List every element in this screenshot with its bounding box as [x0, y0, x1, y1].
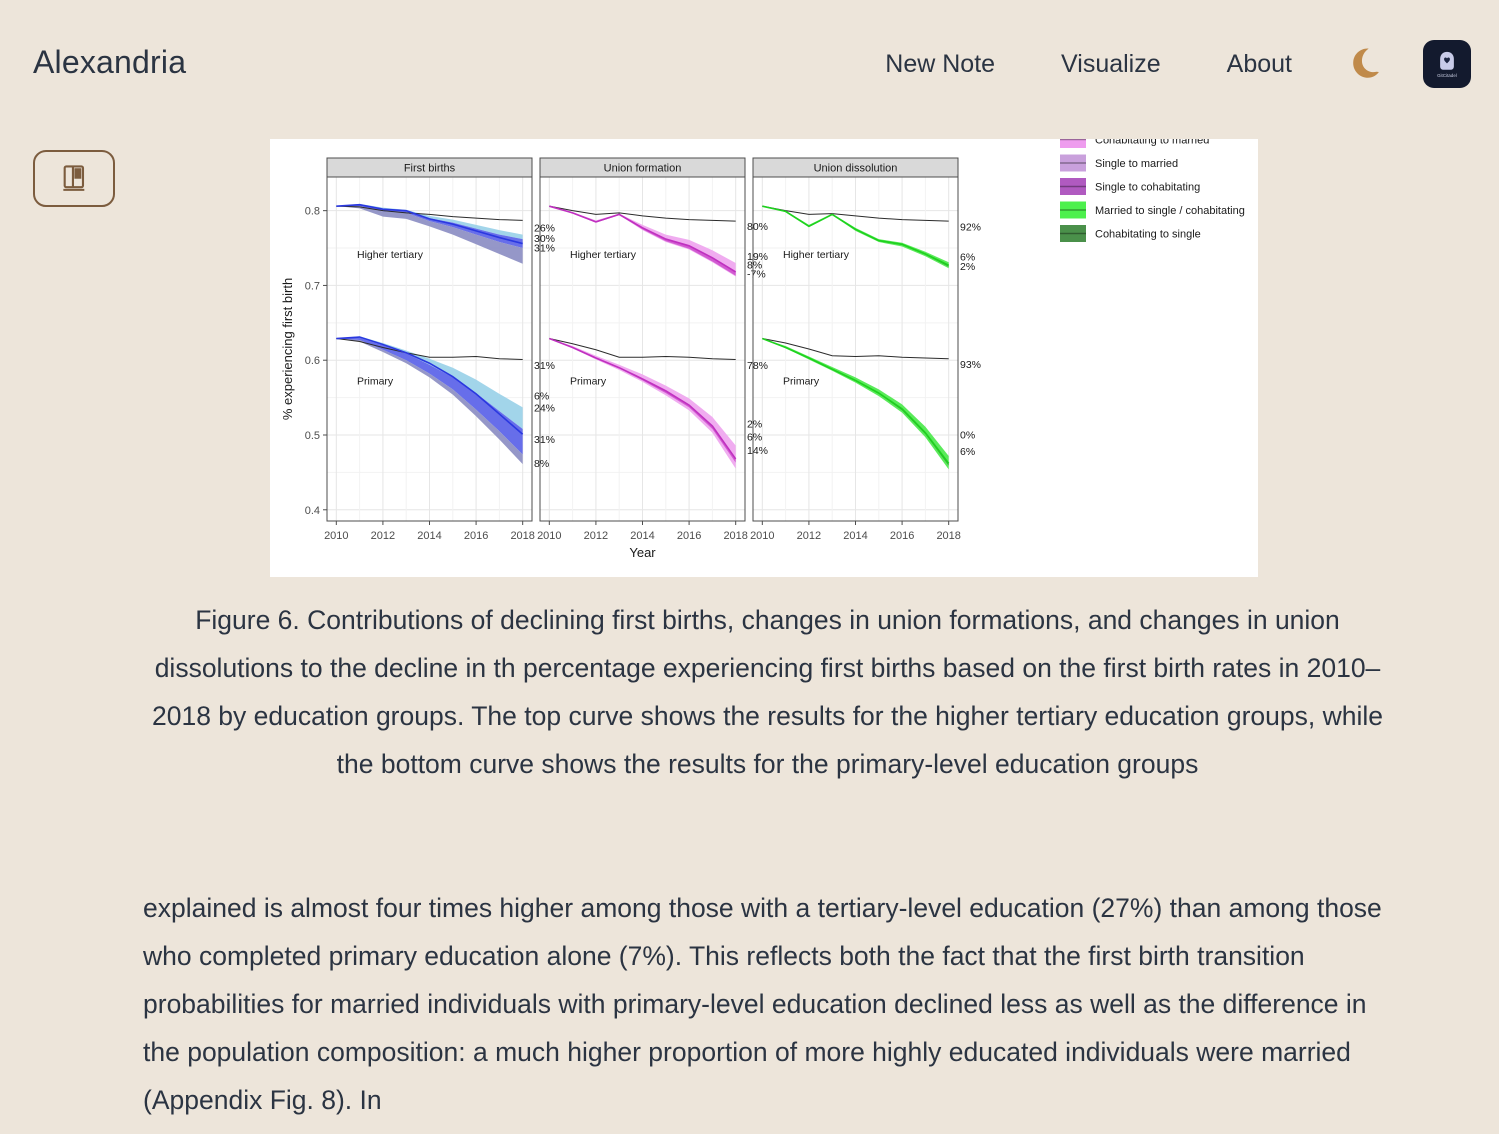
x-tick-label: 2014	[630, 530, 654, 542]
y-tick-label: 0.5	[305, 430, 320, 442]
group-label: Higher tertiary	[783, 249, 850, 261]
body-paragraph: explained is almost four times higher am…	[143, 884, 1391, 1124]
x-tick-label: 2018	[936, 530, 960, 542]
figure-container: Higher tertiary26%30%31%Primary31%6%24%3…	[270, 139, 1258, 577]
legend-label: Cohabitating to married	[1095, 139, 1209, 147]
nav-item-new-note[interactable]: New Note	[852, 42, 1028, 86]
x-axis-label: Year	[629, 545, 656, 560]
y-axis-label: % experiencing first birth	[280, 278, 295, 420]
value-annotation: 14%	[747, 445, 768, 457]
value-annotation: 24%	[534, 403, 555, 415]
group-label: Primary	[783, 376, 820, 388]
value-annotation: 80%	[747, 221, 768, 233]
value-annotation: 2%	[960, 261, 975, 273]
x-tick-label: 2016	[677, 530, 701, 542]
x-tick-label: 2014	[843, 530, 867, 542]
book-icon	[61, 164, 88, 193]
nav-item-visualize[interactable]: Visualize	[1028, 42, 1194, 86]
x-tick-label: 2016	[464, 530, 488, 542]
x-tick-label: 2010	[537, 530, 561, 542]
panel-title: Union dissolution	[814, 163, 898, 175]
value-annotation: -7%	[747, 269, 766, 281]
legend-label: Single to married	[1095, 158, 1178, 170]
gitcitadel-badge[interactable]: GitCitadel	[1423, 40, 1471, 88]
legend-label: Single to cohabitating	[1095, 182, 1200, 194]
app-root: Alexandria New Note Visualize About GitC…	[0, 0, 1499, 1134]
x-tick-label: 2014	[417, 530, 441, 542]
value-annotation: 78%	[747, 360, 768, 372]
value-annotation: 93%	[960, 359, 981, 371]
x-tick-label: 2018	[510, 530, 534, 542]
value-annotation: 0%	[960, 430, 975, 442]
value-annotation: 6%	[960, 446, 975, 458]
group-label: Higher tertiary	[570, 249, 637, 261]
legend-swatch	[1060, 139, 1086, 148]
x-tick-label: 2018	[723, 530, 747, 542]
value-annotation: 31%	[534, 360, 555, 372]
x-tick-label: 2016	[890, 530, 914, 542]
y-tick-label: 0.4	[305, 505, 320, 517]
y-tick-label: 0.6	[305, 355, 320, 367]
value-annotation: 31%	[534, 434, 555, 446]
x-tick-label: 2012	[371, 530, 395, 542]
gitcitadel-badge-label: GitCitadel	[1437, 73, 1457, 78]
top-navbar: Alexandria New Note Visualize About GitC…	[0, 0, 1499, 122]
nav-links: New Note Visualize About GitCitadel	[852, 40, 1471, 88]
value-annotation: 31%	[534, 243, 555, 255]
gitcitadel-logo-icon	[1436, 50, 1458, 72]
value-annotation: 2%	[747, 418, 762, 430]
library-toggle-button[interactable]	[33, 150, 115, 207]
figure-caption: Figure 6. Contributions of declining fir…	[140, 596, 1395, 788]
legend-label: Cohabitating to single	[1095, 229, 1201, 241]
legend-label: Married to single / cohabitating	[1095, 205, 1245, 217]
brand-title[interactable]: Alexandria	[33, 44, 186, 81]
x-tick-label: 2010	[324, 530, 348, 542]
moon-icon	[1351, 46, 1385, 82]
x-tick-label: 2012	[584, 530, 608, 542]
panel-title: Union formation	[604, 163, 682, 175]
x-tick-label: 2010	[750, 530, 774, 542]
value-annotation: 6%	[534, 391, 549, 403]
group-label: Primary	[357, 376, 394, 388]
panel-title: First births	[404, 163, 456, 175]
nav-item-about[interactable]: About	[1194, 42, 1325, 86]
first-births-decomposition-chart: Higher tertiary26%30%31%Primary31%6%24%3…	[270, 139, 1258, 577]
value-annotation: 6%	[747, 432, 762, 444]
value-annotation: 8%	[534, 458, 549, 470]
y-tick-label: 0.8	[305, 206, 320, 218]
group-label: Primary	[570, 376, 607, 388]
x-tick-label: 2012	[797, 530, 821, 542]
y-tick-label: 0.7	[305, 280, 320, 292]
theme-toggle-button[interactable]	[1339, 41, 1397, 87]
group-label: Higher tertiary	[357, 249, 424, 261]
value-annotation: 92%	[960, 222, 981, 234]
